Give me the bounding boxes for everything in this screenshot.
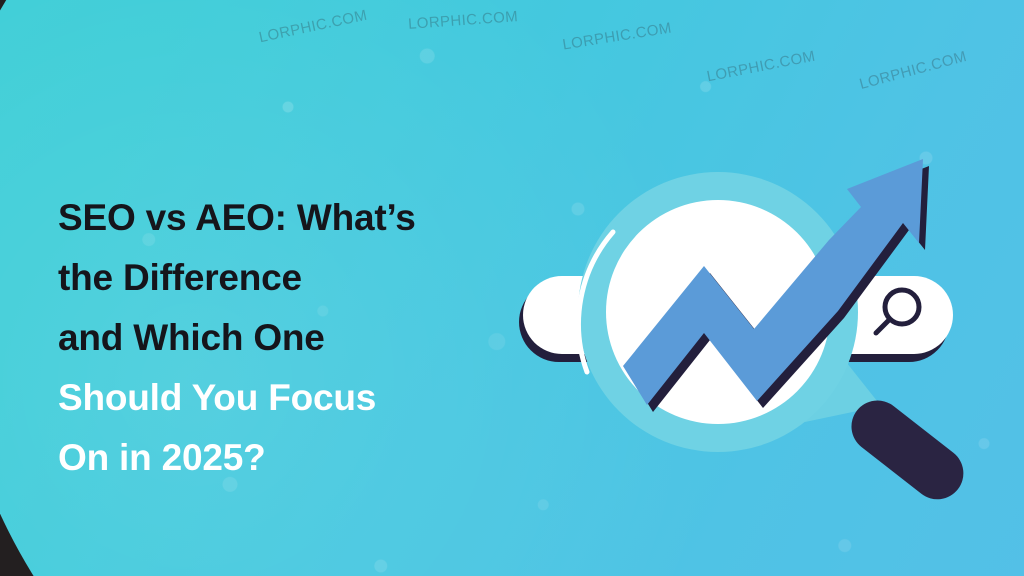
page-title: SEO vs AEO: What’s the Difference and Wh… (58, 188, 528, 488)
title-line-4: Should You Focus (58, 368, 528, 428)
title-line-2: the Difference (58, 248, 528, 308)
title-line-1: SEO vs AEO: What’s (58, 188, 528, 248)
magnifier-handle (841, 390, 974, 500)
title-line-5: On in 2025? (58, 428, 528, 488)
hero-illustration (505, 140, 1024, 500)
hero-banner: LORPHIC.COM LORPHIC.COM LORPHIC.COM LORP… (0, 0, 1024, 576)
title-line-3: and Which One (58, 308, 528, 368)
